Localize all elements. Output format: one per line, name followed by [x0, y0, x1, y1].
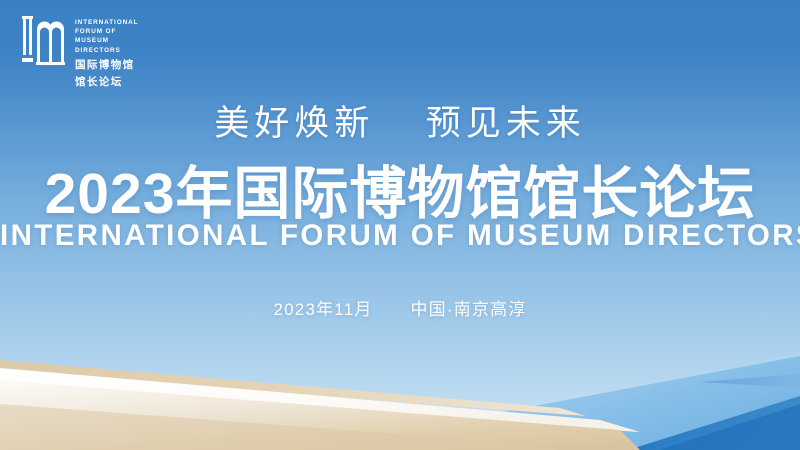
event-date: 2023年11月 [273, 300, 372, 319]
poster-canvas: INTERNATIONAL FORUM OF MUSEUM DIRECTORS … [0, 0, 800, 450]
distant-ridge-sliver [700, 374, 800, 388]
logo-en-line-1: INTERNATIONAL [75, 18, 138, 27]
title-chinese: 2023年国际博物馆馆长论坛 [0, 148, 800, 230]
white-sand-band [0, 368, 640, 432]
logo-en-line-3: MUSEUM [75, 36, 138, 45]
brand-logo[interactable]: INTERNATIONAL FORUM OF MUSEUM DIRECTORS … [22, 16, 138, 89]
title-english: INTERNATIONAL FORUM OF MUSEUM DIRECTORS … [0, 219, 800, 253]
slogan: 美好焕新 预见未来 [0, 95, 800, 146]
logo-cn-line-2: 馆长论坛 [75, 75, 138, 89]
logo-en-line-4: DIRECTORS [75, 46, 138, 55]
deep-blue-triangle-shadow [660, 404, 800, 450]
pale-blue-wedge [430, 352, 800, 450]
slogan-right: 预见未来 [426, 104, 586, 143]
sand-dune [0, 380, 640, 450]
logo-cn-line-1: 国际博物馆 [75, 58, 138, 72]
logo-wordmark: INTERNATIONAL FORUM OF MUSEUM DIRECTORS … [75, 16, 138, 89]
slogan-left: 美好焕新 [214, 104, 374, 143]
event-location: 中国·南京高淳 [410, 300, 526, 319]
deep-blue-triangle [628, 396, 800, 450]
sand-ridge-line [0, 360, 586, 416]
event-meta: 2023年11月 中国·南京高淳 [0, 295, 800, 320]
sand-dune-shade [0, 404, 560, 450]
mid-blue-wedge [300, 356, 800, 450]
logo-en-line-2: FORUM OF [75, 27, 138, 36]
im-monogram-icon [22, 16, 66, 68]
